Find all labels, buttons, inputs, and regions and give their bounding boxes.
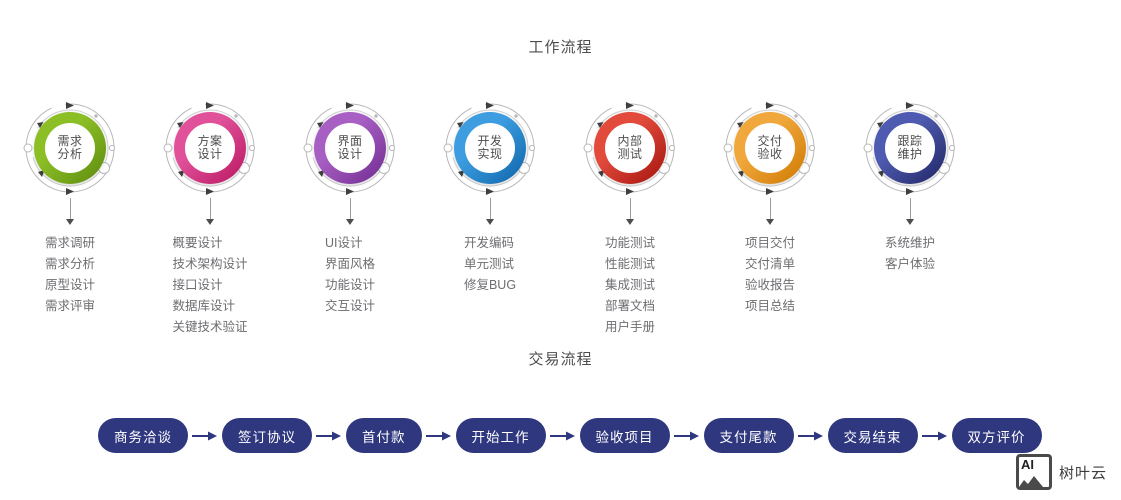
work-flow-title: 工作流程: [0, 36, 1121, 57]
workflow-diagram: 工作流程 需求分析需求调研需求分析原型设计需求评审方案设计概要设计技术架构设计接…: [0, 0, 1121, 500]
workflow-substep-item: 需求分析: [45, 254, 95, 275]
workflow-substep-item: 需求调研: [45, 233, 95, 254]
node-label-line2: 设计: [197, 148, 222, 161]
node-circle-1[interactable]: 需求分析: [18, 96, 122, 200]
node-label-line2: 实现: [477, 148, 502, 161]
node-label-line2: 测试: [617, 148, 642, 161]
node-ring-5: 内部测试: [594, 112, 666, 184]
connector-arrow-icon: [626, 219, 634, 225]
workflow-step-4: 开发实现开发编码单元测试修复BUG: [420, 96, 560, 338]
workflow-substep-item: 修复BUG: [464, 275, 516, 296]
workflow-substep-item: 项目交付: [745, 233, 795, 254]
trade-step-pill-3[interactable]: 首付款: [346, 418, 422, 453]
workflow-substep-list: UI设计界面风格功能设计交互设计: [325, 233, 375, 317]
node-label-3: 界面设计: [325, 123, 375, 173]
connector-stem: [770, 198, 771, 220]
workflow-step-3: 界面设计UI设计界面风格功能设计交互设计: [280, 96, 420, 338]
trade-step-pill-7[interactable]: 交易结束: [828, 418, 918, 453]
trade-step-pill-8[interactable]: 双方评价: [952, 418, 1042, 453]
connector-arrow-icon: [486, 219, 494, 225]
trade-arrow-icon: [670, 430, 704, 442]
node-label-line2: 验收: [757, 148, 782, 161]
image-frame-icon: AI: [1016, 454, 1052, 490]
trade-step-pill-1[interactable]: 商务洽谈: [98, 418, 188, 453]
workflow-substep-list: 功能测试性能测试集成测试部署文档用户手册: [605, 233, 655, 338]
node-circle-7[interactable]: 跟踪维护: [858, 96, 962, 200]
connector-arrow-icon: [206, 219, 214, 225]
trade-arrow-icon: [188, 430, 222, 442]
workflow-substep-item: 开发编码: [464, 233, 516, 254]
workflow-substep-list: 系统维护客户体验: [885, 233, 935, 275]
workflow-substep-item: 性能测试: [605, 254, 655, 275]
workflow-substep-item: 技术架构设计: [172, 254, 247, 275]
node-label-line2: 维护: [897, 148, 922, 161]
node-label-line1: 界面: [337, 135, 362, 148]
node-circle-4[interactable]: 开发实现: [438, 96, 542, 200]
node-label-line1: 方案: [197, 135, 222, 148]
workflow-substep-item: 原型设计: [45, 275, 95, 296]
connector-arrow-icon: [66, 219, 74, 225]
trade-arrow-icon: [794, 430, 828, 442]
workflow-substep-item: 集成测试: [605, 275, 655, 296]
workflow-substep-item: UI设计: [325, 233, 375, 254]
workflow-substep-item: 客户体验: [885, 254, 935, 275]
node-label-4: 开发实现: [465, 123, 515, 173]
trade-flow-row: 商务洽谈签订协议首付款开始工作验收项目支付尾款交易结束双方评价: [98, 418, 1042, 453]
node-ring-3: 界面设计: [314, 112, 386, 184]
node-circle-3[interactable]: 界面设计: [298, 96, 402, 200]
node-ring-4: 开发实现: [454, 112, 526, 184]
connector-stem: [490, 198, 491, 220]
connector-stem: [630, 198, 631, 220]
node-label-line1: 内部: [617, 135, 642, 148]
trade-step-pill-5[interactable]: 验收项目: [580, 418, 670, 453]
connector-stem: [70, 198, 71, 220]
workflow-node-row: 需求分析需求调研需求分析原型设计需求评审方案设计概要设计技术架构设计接口设计数据…: [0, 96, 1121, 338]
workflow-step-5: 内部测试功能测试性能测试集成测试部署文档用户手册: [560, 96, 700, 338]
node-label-line1: 开发: [477, 135, 502, 148]
node-circle-5[interactable]: 内部测试: [578, 96, 682, 200]
node-label-line2: 分析: [57, 148, 82, 161]
connector-stem: [350, 198, 351, 220]
workflow-substep-item: 项目总结: [745, 296, 795, 317]
watermark-label: 树叶云: [1059, 462, 1107, 483]
workflow-substep-item: 交互设计: [325, 296, 375, 317]
trade-flow-title: 交易流程: [0, 348, 1121, 369]
node-label-6: 交付验收: [745, 123, 795, 173]
watermark: AI 树叶云: [1016, 454, 1107, 490]
connector-arrow-icon: [346, 219, 354, 225]
node-label-5: 内部测试: [605, 123, 655, 173]
workflow-substep-item: 交付清单: [745, 254, 795, 275]
node-label-line1: 需求: [57, 135, 82, 148]
workflow-substep-list: 需求调研需求分析原型设计需求评审: [45, 233, 95, 317]
workflow-substep-item: 功能设计: [325, 275, 375, 296]
trade-arrow-icon: [918, 430, 952, 442]
trade-arrow-icon: [312, 430, 346, 442]
workflow-substep-list: 概要设计技术架构设计接口设计数据库设计关键技术验证: [172, 233, 247, 338]
connector-arrow-icon: [766, 219, 774, 225]
connector-arrow-icon: [906, 219, 914, 225]
node-circle-6[interactable]: 交付验收: [718, 96, 822, 200]
node-ring-7: 跟踪维护: [874, 112, 946, 184]
workflow-step-1: 需求分析需求调研需求分析原型设计需求评审: [0, 96, 140, 338]
workflow-substep-item: 单元测试: [464, 254, 516, 275]
workflow-substep-item: 验收报告: [745, 275, 795, 296]
connector-stem: [210, 198, 211, 220]
trade-step-pill-4[interactable]: 开始工作: [456, 418, 546, 453]
workflow-step-7: 跟踪维护系统维护客户体验: [840, 96, 980, 338]
node-label-line2: 设计: [337, 148, 362, 161]
node-ring-2: 方案设计: [174, 112, 246, 184]
workflow-substep-list: 开发编码单元测试修复BUG: [464, 233, 516, 296]
workflow-substep-item: 部署文档: [605, 296, 655, 317]
node-label-line1: 跟踪: [897, 135, 922, 148]
trade-step-pill-6[interactable]: 支付尾款: [704, 418, 794, 453]
trade-arrow-icon: [422, 430, 456, 442]
workflow-substep-item: 需求评审: [45, 296, 95, 317]
node-circle-2[interactable]: 方案设计: [158, 96, 262, 200]
node-ring-6: 交付验收: [734, 112, 806, 184]
workflow-substep-list: 项目交付交付清单验收报告项目总结: [745, 233, 795, 317]
workflow-substep-item: 用户手册: [605, 317, 655, 338]
node-ring-1: 需求分析: [34, 112, 106, 184]
workflow-substep-item: 数据库设计: [172, 296, 247, 317]
node-label-line1: 交付: [757, 135, 782, 148]
workflow-substep-item: 系统维护: [885, 233, 935, 254]
workflow-step-6: 交付验收项目交付交付清单验收报告项目总结: [700, 96, 840, 338]
workflow-substep-item: 关键技术验证: [172, 317, 247, 338]
trade-arrow-icon: [546, 430, 580, 442]
workflow-substep-item: 界面风格: [325, 254, 375, 275]
connector-stem: [910, 198, 911, 220]
node-label-7: 跟踪维护: [885, 123, 935, 173]
workflow-substep-item: 功能测试: [605, 233, 655, 254]
watermark-badge-text: AI: [1021, 458, 1034, 471]
workflow-substep-item: 概要设计: [172, 233, 247, 254]
workflow-substep-item: 接口设计: [172, 275, 247, 296]
node-label-2: 方案设计: [185, 123, 235, 173]
trade-step-pill-2[interactable]: 签订协议: [222, 418, 312, 453]
node-label-1: 需求分析: [45, 123, 95, 173]
workflow-step-2: 方案设计概要设计技术架构设计接口设计数据库设计关键技术验证: [140, 96, 280, 338]
